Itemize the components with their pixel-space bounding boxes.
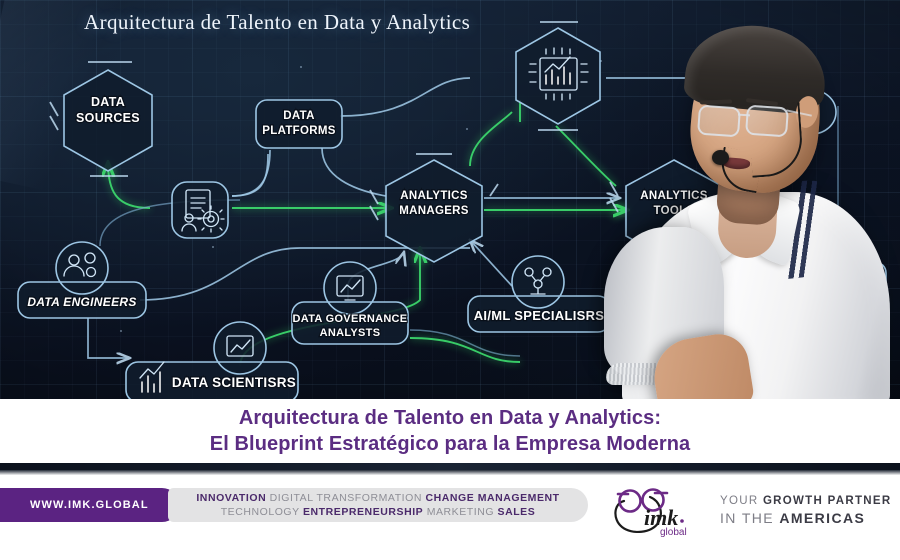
node-label: DATA GOVERNANCE (293, 313, 408, 325)
node-label: DATA (283, 110, 314, 122)
node-label: DATA (91, 95, 125, 109)
node-label: MANAGERS (399, 205, 469, 217)
slide-screenshot: Arquitectura de Talento en Data y Analyt… (0, 0, 900, 560)
node-data-scientists[interactable]: DATA SCIENTISRS (126, 322, 298, 399)
tagline-line-2: IN THE AMERICAS (720, 509, 891, 527)
keyword-technology: TECHNOLOGY (221, 506, 300, 518)
keywords-row-1: INNOVATION DIGITAL TRANSFORMATION CHANGE… (196, 491, 559, 505)
website-url-pill[interactable]: WWW.IMK.GLOBAL (0, 488, 179, 522)
brand-block: imk global YOUR GROWTH PARTNER IN THE AM… (608, 481, 898, 541)
keyword-innovation: INNOVATION (196, 492, 266, 504)
node-label: AI/ML SPECIALISRS (474, 308, 605, 323)
tagline-americas: AMERICAS (779, 510, 865, 526)
banner-title-line2: El Blueprint Estratégico para la Empresa… (210, 431, 691, 457)
website-url-label: WWW.IMK.GLOBAL (30, 499, 149, 511)
tagline-in-the: IN THE (720, 510, 774, 526)
node-data-engineers[interactable]: DATA ENGINEERS (18, 242, 146, 318)
imk-global-logo[interactable]: imk global (608, 481, 708, 537)
node-label: ANALYSTS (320, 327, 381, 339)
node-data-sources[interactable]: DATA SOURCES (50, 62, 152, 176)
presentation-slide: Arquitectura de Talento en Data y Analyt… (0, 0, 900, 399)
keyword-change-management: CHANGE MANAGEMENT (425, 492, 559, 504)
node-analytics-managers[interactable]: ANALYTICS MANAGERS (370, 154, 498, 262)
keywords-row-2: TECHNOLOGY ENTREPRENEURSHIP MARKETING SA… (221, 505, 536, 519)
keyword-marketing: MARKETING (427, 506, 494, 518)
keyword-digital-transformation: DIGITAL TRANSFORMATION (270, 492, 422, 504)
lower-third-banner: Arquitectura de Talento en Data y Analyt… (0, 399, 900, 463)
presenter-photo (600, 0, 900, 399)
keyword-sales: SALES (498, 506, 536, 518)
slide-title: Arquitectura de Talento en Data y Analyt… (84, 10, 470, 35)
node-label: DATA SCIENTISRS (172, 375, 296, 390)
logo-subtext: global (660, 527, 687, 537)
node-label: ANALYTICS (400, 190, 467, 202)
tagline-growth-partner: GROWTH PARTNER (763, 495, 892, 507)
tagline-line-1: YOUR GROWTH PARTNER (720, 493, 891, 509)
node-document-gear-icon[interactable] (172, 182, 228, 238)
node-data-governance-analysts[interactable]: DATA GOVERNANCE ANALYSTS (292, 262, 408, 344)
footer-bar: WWW.IMK.GLOBAL INNOVATION DIGITAL TRANSF… (0, 475, 900, 560)
tagline-your: YOUR (720, 495, 758, 507)
brand-tagline: YOUR GROWTH PARTNER IN THE AMERICAS (720, 493, 891, 527)
node-aiml-specialists[interactable]: AI/ML SPECIALISRS (468, 256, 610, 332)
node-label: DATA ENGINEERS (27, 295, 136, 309)
banner-shadow-strip (0, 463, 900, 475)
node-data-platforms[interactable]: DATA PLATFORMS (256, 100, 342, 148)
keywords-pill: INNOVATION DIGITAL TRANSFORMATION CHANGE… (168, 488, 588, 522)
node-label: PLATFORMS (262, 125, 335, 137)
keyword-entrepreneurship: ENTREPRENEURSHIP (303, 506, 423, 518)
node-chart-chip-hexagon[interactable] (516, 22, 600, 130)
node-label: SOURCES (76, 111, 140, 125)
banner-title-line1: Arquitectura de Talento en Data y Analyt… (239, 406, 661, 431)
